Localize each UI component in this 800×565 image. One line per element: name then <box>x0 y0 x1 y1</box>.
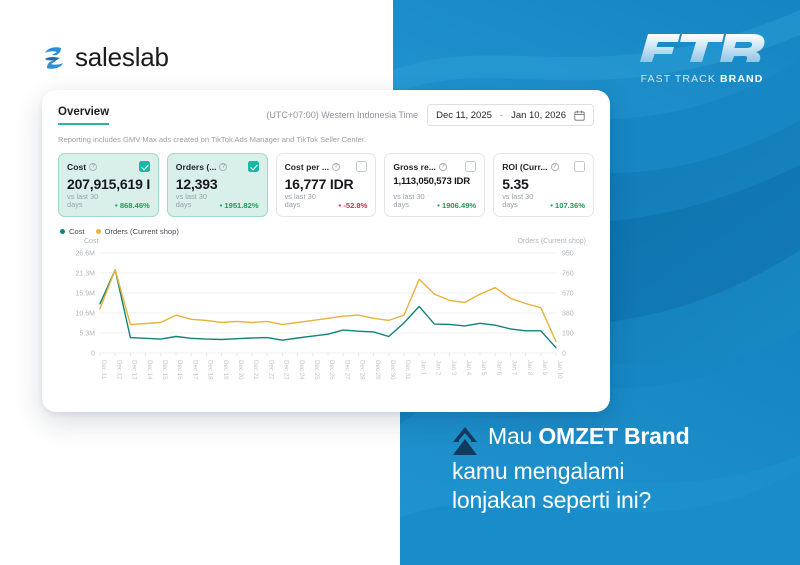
metric-card-roi[interactable]: ROI (Curr... ? 5.35 vs last 30 days 107.… <box>493 153 594 217</box>
x-axis-tick: Dec 22 <box>267 360 274 380</box>
metric-card-header: Orders (... ? <box>176 161 259 172</box>
legend-swatch <box>60 229 65 234</box>
x-axis-tick: Jan 10 <box>556 360 563 379</box>
x-axis-tick: Dec 14 <box>146 360 153 380</box>
y-axis-tick: 21.3M <box>76 270 96 277</box>
question-mark-icon[interactable]: ? <box>551 163 559 171</box>
y-axis-tick: 10.6M <box>76 310 96 317</box>
chart-series-orders <box>100 270 556 342</box>
y-axis-tick: 0 <box>91 350 95 357</box>
y-axis-tick: 26.6M <box>76 250 96 257</box>
x-axis-tick: Dec 25 <box>313 360 320 380</box>
chart-series-cost <box>100 270 556 348</box>
metric-delta: 868.46% <box>115 201 150 210</box>
x-axis-tick: Dec 26 <box>328 360 335 380</box>
metric-card-orders[interactable]: Orders (... ? 12,393 vs last 30 days 195… <box>167 153 268 217</box>
metric-card-list: Cost ? 207,915,619 I... vs last 30 days … <box>58 153 594 217</box>
metric-card-gross-revenue[interactable]: Gross re... ? 1,113,050,573 IDR vs last … <box>384 153 485 217</box>
dashboard-header: Overview (UTC+07:00) Western Indonesia T… <box>58 104 594 126</box>
metric-checkbox[interactable] <box>139 161 150 172</box>
metric-label: Cost per ... <box>285 162 329 172</box>
x-axis-tick: Dec 18 <box>207 360 214 380</box>
x-axis-tick: Dec 16 <box>176 360 183 380</box>
question-mark-icon[interactable]: ? <box>219 163 227 171</box>
metric-card-header: Cost ? <box>67 161 150 172</box>
y2-axis-tick: 950 <box>562 250 574 257</box>
headline-block: Mau OMZET Brand kamu mengalami lonjakan … <box>452 424 782 515</box>
y2-axis-tick: 380 <box>562 310 574 317</box>
metric-compare-label: vs last 30 days <box>176 193 214 210</box>
metric-footer: vs last 30 days 1951.82% <box>176 193 259 210</box>
chart-container: Cost Orders (Current shop) 005.3M19010.6… <box>58 238 594 388</box>
metric-footer: vs last 30 days 1906.49% <box>393 193 476 210</box>
legend-label: Cost <box>69 227 85 236</box>
metric-compare-label: vs last 30 days <box>67 193 105 210</box>
legend-item-cost[interactable]: Cost <box>60 227 85 236</box>
metric-card-cost[interactable]: Cost ? 207,915,619 I... vs last 30 days … <box>58 153 159 217</box>
y-axis-tick: 15.9M <box>76 290 96 297</box>
question-mark-icon[interactable]: ? <box>439 163 447 171</box>
line-chart[interactable]: 005.3M19010.6M38015.9M57021.3M76026.6M95… <box>58 249 594 388</box>
legend-label: Orders (Current shop) <box>105 227 179 236</box>
x-axis-tick: Jan 6 <box>495 360 502 376</box>
y2-axis-tick: 0 <box>562 350 566 357</box>
metric-card-header: Gross re... ? <box>393 161 476 172</box>
ftb-logo: FAST TRACK BRAND <box>626 28 778 85</box>
reporting-note: Reporting includes GMV Max ads created o… <box>58 135 594 144</box>
metric-label: Cost <box>67 162 86 172</box>
timezone-label: (UTC+07:00) Western Indonesia Time <box>266 110 427 120</box>
metric-card-cost-per[interactable]: Cost per ... ? 16,777 IDR vs last 30 day… <box>276 153 377 217</box>
metric-footer: vs last 30 days 868.46% <box>67 193 150 210</box>
y2-axis-tick: 190 <box>562 330 574 337</box>
ftb-mark-icon <box>632 28 772 70</box>
metric-delta: -52.8% <box>339 201 368 210</box>
y-axis-title: Cost <box>84 238 98 245</box>
headline-line-2: kamu mengalami <box>452 457 782 486</box>
date-range-picker[interactable]: Dec 11, 2025 - Jan 10, 2026 <box>427 104 594 126</box>
x-axis-tick: Dec 15 <box>161 360 168 380</box>
saleslab-logo: saleslab <box>42 42 169 73</box>
headline-line-3: lonjakan seperti ini? <box>452 486 782 515</box>
headline-line-1: Mau OMZET Brand <box>488 424 689 450</box>
x-axis-tick: Dec 21 <box>252 360 259 380</box>
metric-card-header: Cost per ... ? <box>285 161 368 172</box>
legend-item-orders[interactable]: Orders (Current shop) <box>96 227 179 236</box>
x-axis-tick: Dec 13 <box>131 360 138 380</box>
metric-value: 5.35 <box>502 176 585 192</box>
x-axis-tick: Dec 24 <box>298 360 305 380</box>
x-axis-tick: Dec 20 <box>237 360 244 380</box>
metric-checkbox[interactable] <box>356 161 367 172</box>
date-range-end: Jan 10, 2026 <box>511 110 566 121</box>
headline-line-1-plain: Mau <box>488 423 538 449</box>
metric-card-header: ROI (Curr... ? <box>502 161 585 172</box>
x-axis-tick: Jan 5 <box>480 360 487 376</box>
x-axis-tick: Dec 17 <box>191 360 198 380</box>
legend-swatch <box>96 229 101 234</box>
metric-label: ROI (Curr... <box>502 162 547 172</box>
metric-delta: 1906.49% <box>437 201 476 210</box>
metric-value: 12,393 <box>176 176 259 192</box>
x-axis-tick: Dec 19 <box>222 360 229 380</box>
x-axis-tick: Dec 27 <box>343 360 350 380</box>
saleslab-swirl-icon <box>42 45 66 71</box>
date-range-separator: - <box>500 110 503 121</box>
white-notch <box>340 390 400 565</box>
saleslab-wordmark: saleslab <box>75 42 169 73</box>
x-axis-tick: Dec 28 <box>359 360 366 380</box>
y2-axis-title: Orders (Current shop) <box>518 238 586 245</box>
calendar-icon[interactable] <box>574 110 585 121</box>
metric-footer: vs last 30 days 107.36% <box>502 193 585 210</box>
metric-label: Orders (... <box>176 162 217 172</box>
date-range-start: Dec 11, 2025 <box>436 110 492 121</box>
double-chevron-up-icon <box>452 427 478 457</box>
metric-delta: 107.36% <box>550 201 585 210</box>
x-axis-tick: Jan 7 <box>511 360 518 376</box>
metric-checkbox[interactable] <box>465 161 476 172</box>
x-axis-tick: Dec 29 <box>374 360 381 380</box>
question-mark-icon[interactable]: ? <box>89 163 97 171</box>
metric-checkbox[interactable] <box>248 161 259 172</box>
x-axis-tick: Dec 11 <box>100 360 107 380</box>
x-axis-tick: Dec 30 <box>389 360 396 380</box>
x-axis-tick: Jan 9 <box>541 360 548 376</box>
x-axis-tick: Dec 31 <box>404 360 411 380</box>
metric-compare-label: vs last 30 days <box>285 193 323 210</box>
metric-value: 207,915,619 I... <box>67 176 150 192</box>
metric-value: 16,777 IDR <box>285 176 368 192</box>
x-axis-tick: Dec 12 <box>115 360 122 380</box>
headline-line-1-row: Mau OMZET Brand <box>452 424 782 457</box>
x-axis-tick: Jan 8 <box>526 360 533 376</box>
metric-compare-label: vs last 30 days <box>502 193 540 210</box>
y2-axis-tick: 570 <box>562 290 574 297</box>
metric-checkbox[interactable] <box>574 161 585 172</box>
y2-axis-tick: 760 <box>562 270 574 277</box>
metric-label: Gross re... <box>393 162 436 172</box>
x-axis-tick: Jan 4 <box>465 360 472 376</box>
y-axis-tick: 5.3M <box>79 330 95 337</box>
x-axis-tick: Jan 3 <box>450 360 457 376</box>
question-mark-icon[interactable]: ? <box>332 163 340 171</box>
ftb-tagline-light: FAST TRACK <box>641 73 720 85</box>
x-axis-tick: Jan 2 <box>435 360 442 376</box>
headline-line-1-bold: OMZET Brand <box>538 423 689 449</box>
x-axis-tick: Jan 1 <box>419 360 426 376</box>
chart-legend: Cost Orders (Current shop) <box>58 227 594 236</box>
x-axis-tick: Dec 23 <box>283 360 290 380</box>
poster-stage: saleslab FAST TRACK BRAND Overview (UTC+… <box>0 0 800 565</box>
tab-overview[interactable]: Overview <box>58 106 109 125</box>
ftb-tagline: FAST TRACK BRAND <box>626 73 778 85</box>
ftb-tagline-bold: BRAND <box>720 73 763 85</box>
dashboard-card: Overview (UTC+07:00) Western Indonesia T… <box>42 90 610 412</box>
metric-value: 1,113,050,573 IDR <box>393 176 476 187</box>
metric-footer: vs last 30 days -52.8% <box>285 193 368 210</box>
metric-delta: 1951.82% <box>220 201 259 210</box>
metric-compare-label: vs last 30 days <box>393 193 431 210</box>
